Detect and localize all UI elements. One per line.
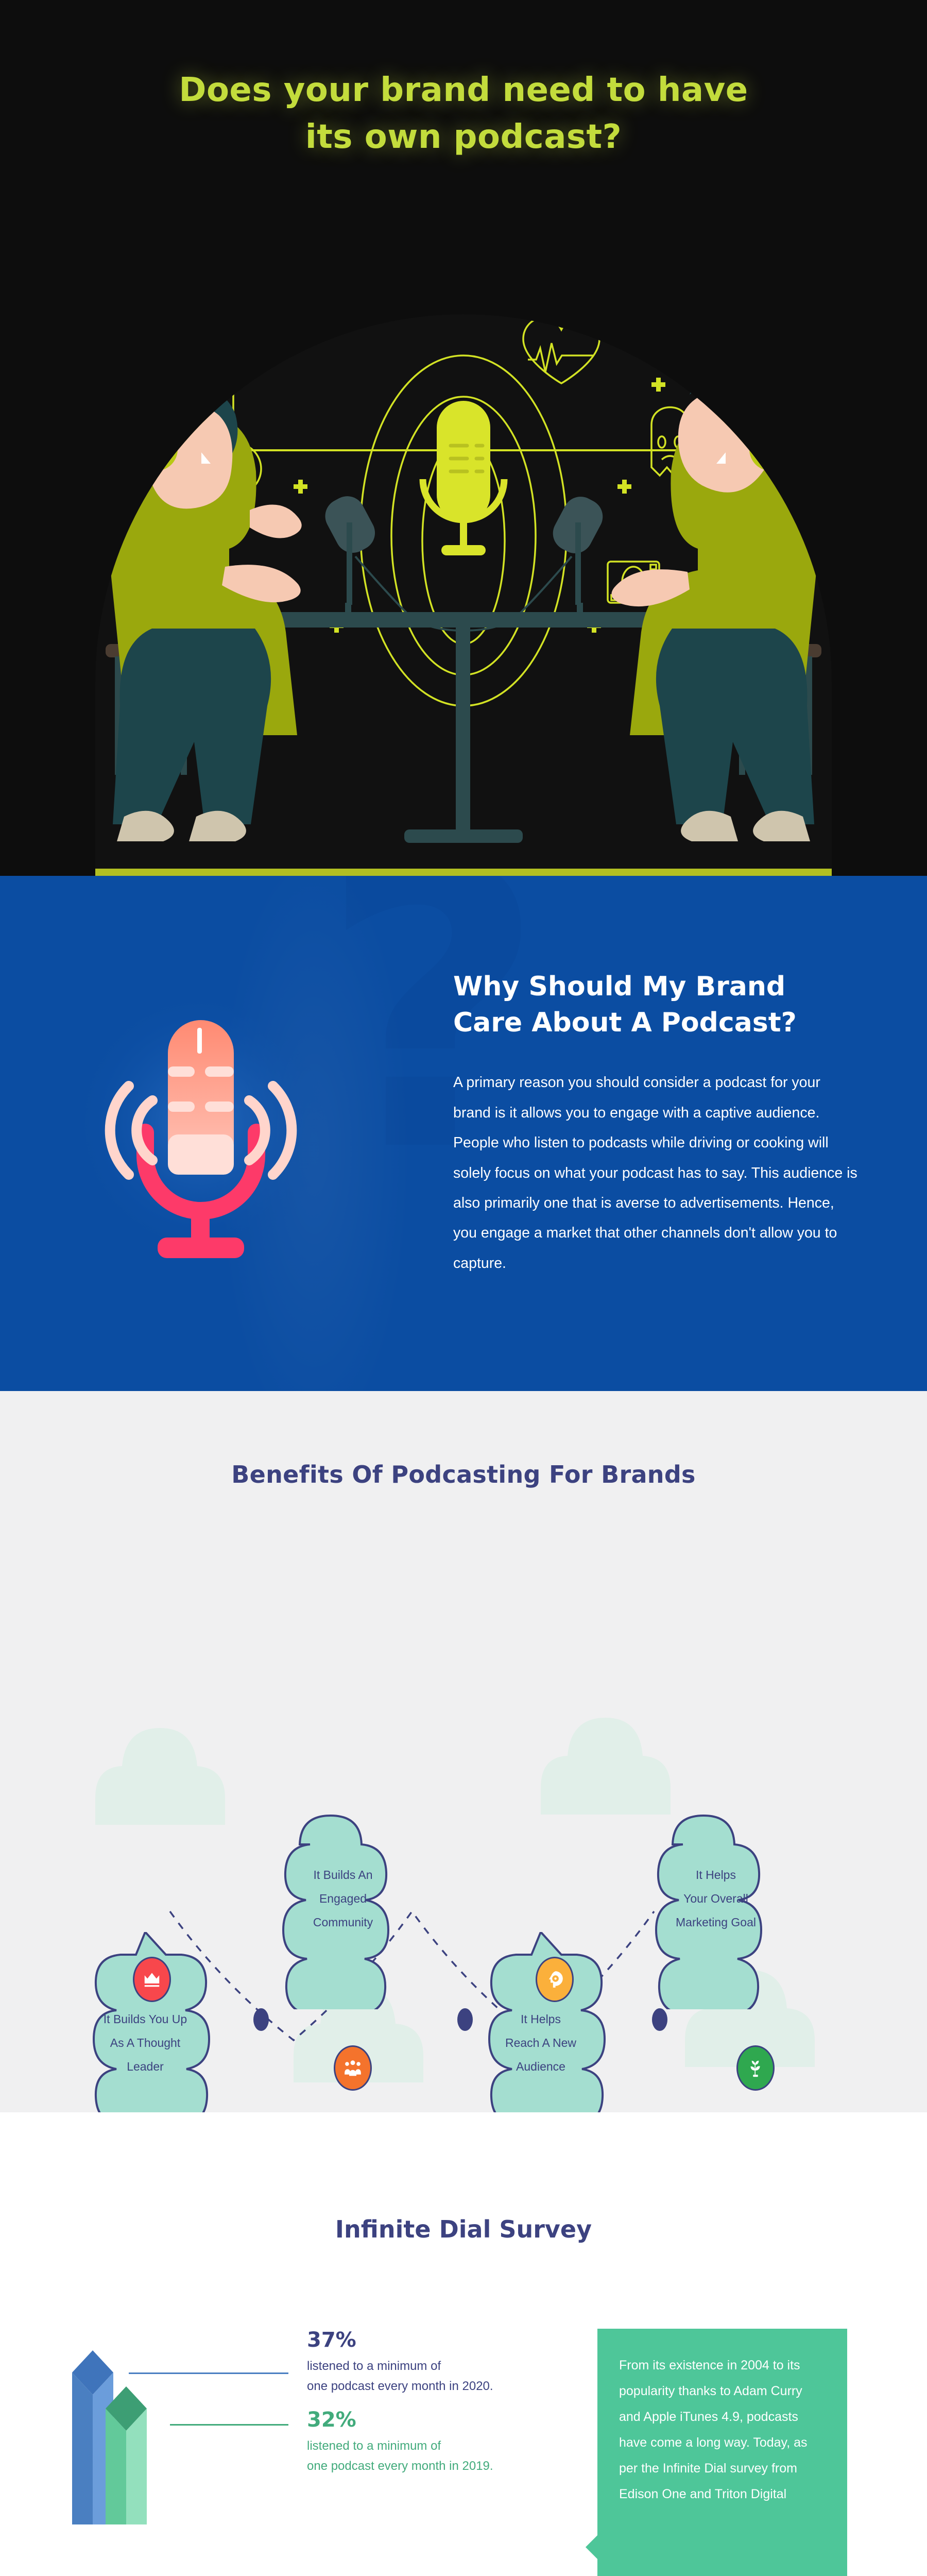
connector-dot-3 [652,2008,667,2031]
hero-title: Does your brand need to have its own pod… [0,67,927,161]
benefit-3-line3: Leader [93,2055,198,2078]
stat-2019-line2: one podcast every month in 2019. [307,2456,493,2477]
benefit-2-line3: Marketing Goal [663,1910,768,1934]
why-heading-line1: Why Should My Brand [453,969,860,1005]
benefit-4-line2: Reach A New [488,2031,593,2055]
stage-floor [95,869,832,876]
benefit-1-line3: Community [290,1910,396,1934]
leader-line-2020 [129,2372,288,2374]
stat-2020-block: 37% listened to a minimum of one podcast… [307,2329,493,2397]
benefits-title: Benefits Of Podcasting For Brands [0,1461,927,1488]
stat-2019-percent: 32% [307,2409,493,2431]
hero-section: Does your brand need to have its own pod… [0,0,927,876]
plant-growth-icon-node [736,2045,775,2091]
stat-2020-percent: 37% [307,2329,493,2351]
stat-2020-line1: listened to a minimum of [307,2357,493,2377]
hero-title-line1: Does your brand need to have [0,67,927,114]
benefit-3-line1: It Builds You Up [93,2007,198,2031]
stat-2019-line1: listened to a minimum of [307,2436,493,2456]
benefit-2-line1: It Helps [663,1863,768,1887]
group-icon-node [334,2045,372,2091]
benefit-1-line1: It Builds An [290,1863,396,1887]
benefits-section: Benefits Of Podcasting For Brands It Bui… [0,1391,927,2112]
stat-2020-line2: one podcast every month in 2020. [307,2377,493,2397]
heart-pulse-icon [523,318,599,383]
podcast-studio-illustration [95,314,832,876]
pink-microphone-illustration [67,999,335,1288]
quote-tail [586,2535,598,2560]
benefit-bubble-1: It Builds An Engaged Community [276,1788,410,2009]
stat-2019-block: 32% listened to a minimum of one podcast… [307,2409,493,2477]
benefit-bubble-1-text: It Builds An Engaged Community [276,1863,410,1934]
benefit-bubble-4: It Helps Reach A New Audience [474,1932,608,2112]
benefit-bubble-2-text: It Helps Your Overall Marketing Goal [649,1863,783,1934]
survey-quote-text: From its existence in 2004 to its popula… [619,2358,808,2501]
hero-title-line2: its own podcast? [0,114,927,161]
connector-dot-1 [253,2008,269,2031]
bookmark-flag [198,314,213,338]
plant-growth-icon [746,2058,765,2078]
target-head-icon-node [536,1957,574,2002]
why-section: ? [0,876,927,1391]
survey-3d-bars [72,2339,191,2524]
benefit-bubble-2: It Helps Your Overall Marketing Goal [649,1788,783,2009]
bar-2019-3d [106,2386,147,2524]
crown-icon-node [133,1957,171,2002]
benefit-4-line3: Audience [488,2055,593,2078]
horizon-dot-right [803,445,814,455]
headphone-left [134,428,178,471]
why-body-text: A primary reason you should consider a p… [453,1067,860,1278]
hero-stage [95,314,832,876]
connector-dot-2 [457,2008,473,2031]
benefit-1-line2: Engaged [290,1887,396,1910]
mic-stem [191,1204,210,1241]
survey-section: Infinite Dial Survey 37% listened to a m… [0,2112,927,2576]
benefit-bubble-4-text: It Helps Reach A New Audience [474,2007,608,2078]
benefit-3-line2: As A Thought [93,2031,198,2055]
leader-line-2019 [170,2424,288,2426]
person-left-illustration [110,379,302,841]
mic-base [158,1238,244,1258]
benefit-2-line2: Your Overall [663,1887,768,1910]
group-icon [343,2058,363,2078]
why-heading-line2: Care About A Podcast? [453,1005,860,1041]
crown-icon [142,1970,162,1989]
target-head-icon [545,1970,564,1989]
survey-quote-box: From its existence in 2004 to its popula… [597,2329,847,2576]
survey-title: Infinite Dial Survey [0,2215,927,2243]
person-right-illustration [611,367,817,841]
horizon-dot-left [113,445,124,455]
why-heading: Why Should My Brand Care About A Podcast… [453,969,860,1041]
benefit-bubble-3-text: It Builds You Up As A Thought Leader [78,2007,212,2078]
benefit-4-line1: It Helps [488,2007,593,2031]
headphone-right [749,428,793,471]
infographic-page: Does your brand need to have its own pod… [0,0,927,2576]
microphone-icon [423,401,504,555]
why-text-column: Why Should My Brand Care About A Podcast… [453,969,860,1278]
